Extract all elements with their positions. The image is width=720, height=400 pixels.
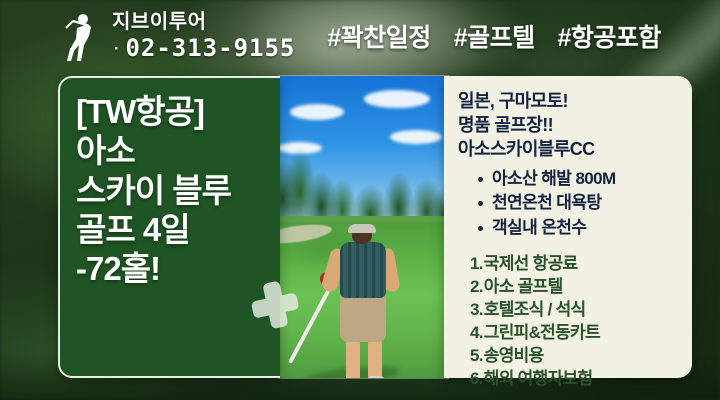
list-item: 2.아소 골프텔 [470, 275, 692, 298]
banner-header: 지브이투어 ·02-313-9155 #꽉찬일정 #골프텔 #항공포함 [0, 0, 720, 72]
brand-block: 지브이투어 ·02-313-9155 [60, 11, 295, 61]
tour-title-line-5: -72홀! [76, 249, 280, 288]
photo-golfer-right-leg [368, 338, 382, 378]
hashtag-row: #꽉찬일정 #골프텔 #항공포함 [327, 18, 661, 54]
photo-golfer-shorts [340, 294, 386, 342]
hashtag-1: #꽉찬일정 [327, 24, 430, 52]
brand-phone-row: ·02-313-9155 [112, 36, 295, 60]
destination-heading-line-3: 아소스카이블루CC [458, 138, 692, 162]
tour-title-line-2: 아소 [76, 131, 280, 170]
destination-heading-line-2: 명품 골프장!! [458, 114, 692, 138]
tour-title: [TW항공] 아소 스카이 블루 골프 4일 -72홀! [76, 92, 280, 288]
inclusions-numbered-list: 1.국제선 항공료 2.아소 골프텔 3.호텔조식 / 석식 4.그린피&전동카… [458, 252, 692, 391]
list-item-label: 송영비용 [484, 346, 544, 365]
list-item: 6.해외 여행자보험 [470, 367, 692, 390]
list-item-label: 국제선 항공료 [484, 254, 578, 273]
photo-golfer-left-leg [346, 338, 360, 378]
photo-cloud [364, 90, 430, 108]
list-item: 4.그린피&전동카트 [470, 321, 692, 344]
list-item-number: 5. [470, 346, 483, 365]
list-item-number: 1. [470, 254, 483, 273]
list-item-number: 6. [470, 369, 483, 388]
list-item-label: 아소 골프텔 [484, 277, 563, 296]
phone-dot: · [112, 42, 121, 56]
list-item-number: 2. [470, 277, 483, 296]
destination-heading-line-1: 일본, 구마모토! [458, 90, 692, 114]
list-item: 천연온천 대욕탕 [476, 191, 692, 215]
left-title-panel: [TW항공] 아소 스카이 블루 골프 4일 -72홀! [58, 76, 280, 378]
list-item-label: 해외 여행자보험 [484, 369, 593, 388]
list-item: 3.호텔조식 / 석식 [470, 298, 692, 321]
photo-treeline [272, 136, 448, 226]
tour-title-line-1: [TW항공] [76, 92, 280, 131]
hashtag-3: #항공포함 [558, 24, 661, 52]
list-item: 객실내 온천수 [476, 216, 692, 240]
feature-bullet-list: 아소산 해발 800M 천연온천 대욕탕 객실내 온천수 [458, 167, 692, 239]
list-item-number: 4. [470, 323, 483, 342]
list-item-label: 그린피&전동카트 [484, 323, 600, 342]
brand-text-block: 지브이투어 ·02-313-9155 [112, 12, 295, 60]
phone-number: 02-313-9155 [125, 34, 295, 62]
right-details-panel: 일본, 구마모토! 명품 골프장!! 아소스카이블루CC 아소산 해발 800M… [444, 76, 692, 378]
tour-title-line-4: 골프 4일 [76, 210, 280, 249]
photo-golfer-right-shoe [367, 376, 385, 378]
list-item: 5.송영비용 [470, 344, 692, 367]
hashtag-2: #골프텔 [454, 24, 535, 52]
list-item-number: 3. [470, 300, 483, 319]
tour-title-line-3: 스카이 블루 [76, 171, 280, 210]
golfer-walking-on-fairway-photo [272, 76, 448, 378]
photo-cloud [290, 104, 344, 120]
photo-golfer-shirt [340, 242, 386, 298]
list-item-label: 호텔조식 / 석식 [484, 300, 586, 319]
golf-tour-promo-banner: 지브이투어 ·02-313-9155 #꽉찬일정 #골프텔 #항공포함 [0, 0, 720, 400]
golfer-swing-icon [60, 11, 100, 61]
photo-golfer-cap [348, 224, 376, 233]
brand-name: 지브이투어 [112, 12, 295, 32]
destination-heading: 일본, 구마모토! 명품 골프장!! 아소스카이블루CC [458, 90, 692, 161]
list-item: 아소산 해발 800M [476, 167, 692, 191]
list-item: 1.국제선 항공료 [470, 252, 692, 275]
